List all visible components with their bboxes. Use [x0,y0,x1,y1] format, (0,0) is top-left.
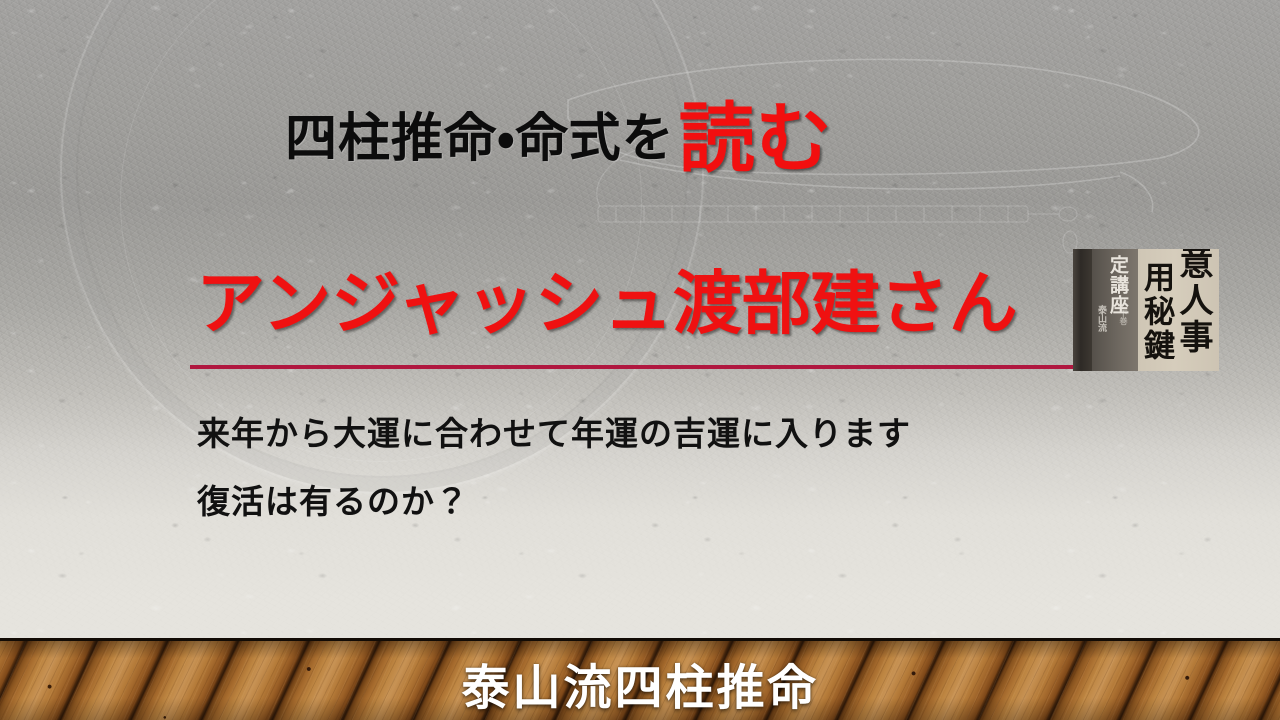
body-line-1: 来年から大運に合わせて年運の吉運に入ります [197,419,911,452]
headline-black-text: 四柱推命・命式を [285,111,675,168]
headline-red-emphasis: 読む [679,98,833,182]
book-spine [1073,249,1092,371]
subtitle-underline-rule [190,365,1095,369]
slide-headline: 四柱推命・命式を読む [285,93,833,169]
book-cover-image: 定講座 泰山流 下巻 意人事 用秘鍵 [1073,249,1219,371]
footer-wood-banner: 泰山流四柱推命 [0,638,1280,720]
book-calligraphy-column-left: 用秘鍵 [1138,261,1179,363]
book-paper-panel: 意人事 用秘鍵 [1138,249,1219,371]
book-dark-panel: 定講座 泰山流 下巻 [1092,249,1138,371]
body-line-2: 復活は有るのか？ [197,487,469,520]
slide-canvas: 四柱推命・命式を読む アンジャッシュ渡部建さん 来年から大運に合わせて年運の吉運… [0,0,1280,720]
book-spine-subtitle: 泰山流 [1096,305,1109,332]
book-spine-volume: 下巻 [1118,309,1129,325]
footer-banner-title: 泰山流四柱推命 [0,641,1280,720]
slide-subtitle: アンジャッシュ渡部建さん [196,270,1018,339]
